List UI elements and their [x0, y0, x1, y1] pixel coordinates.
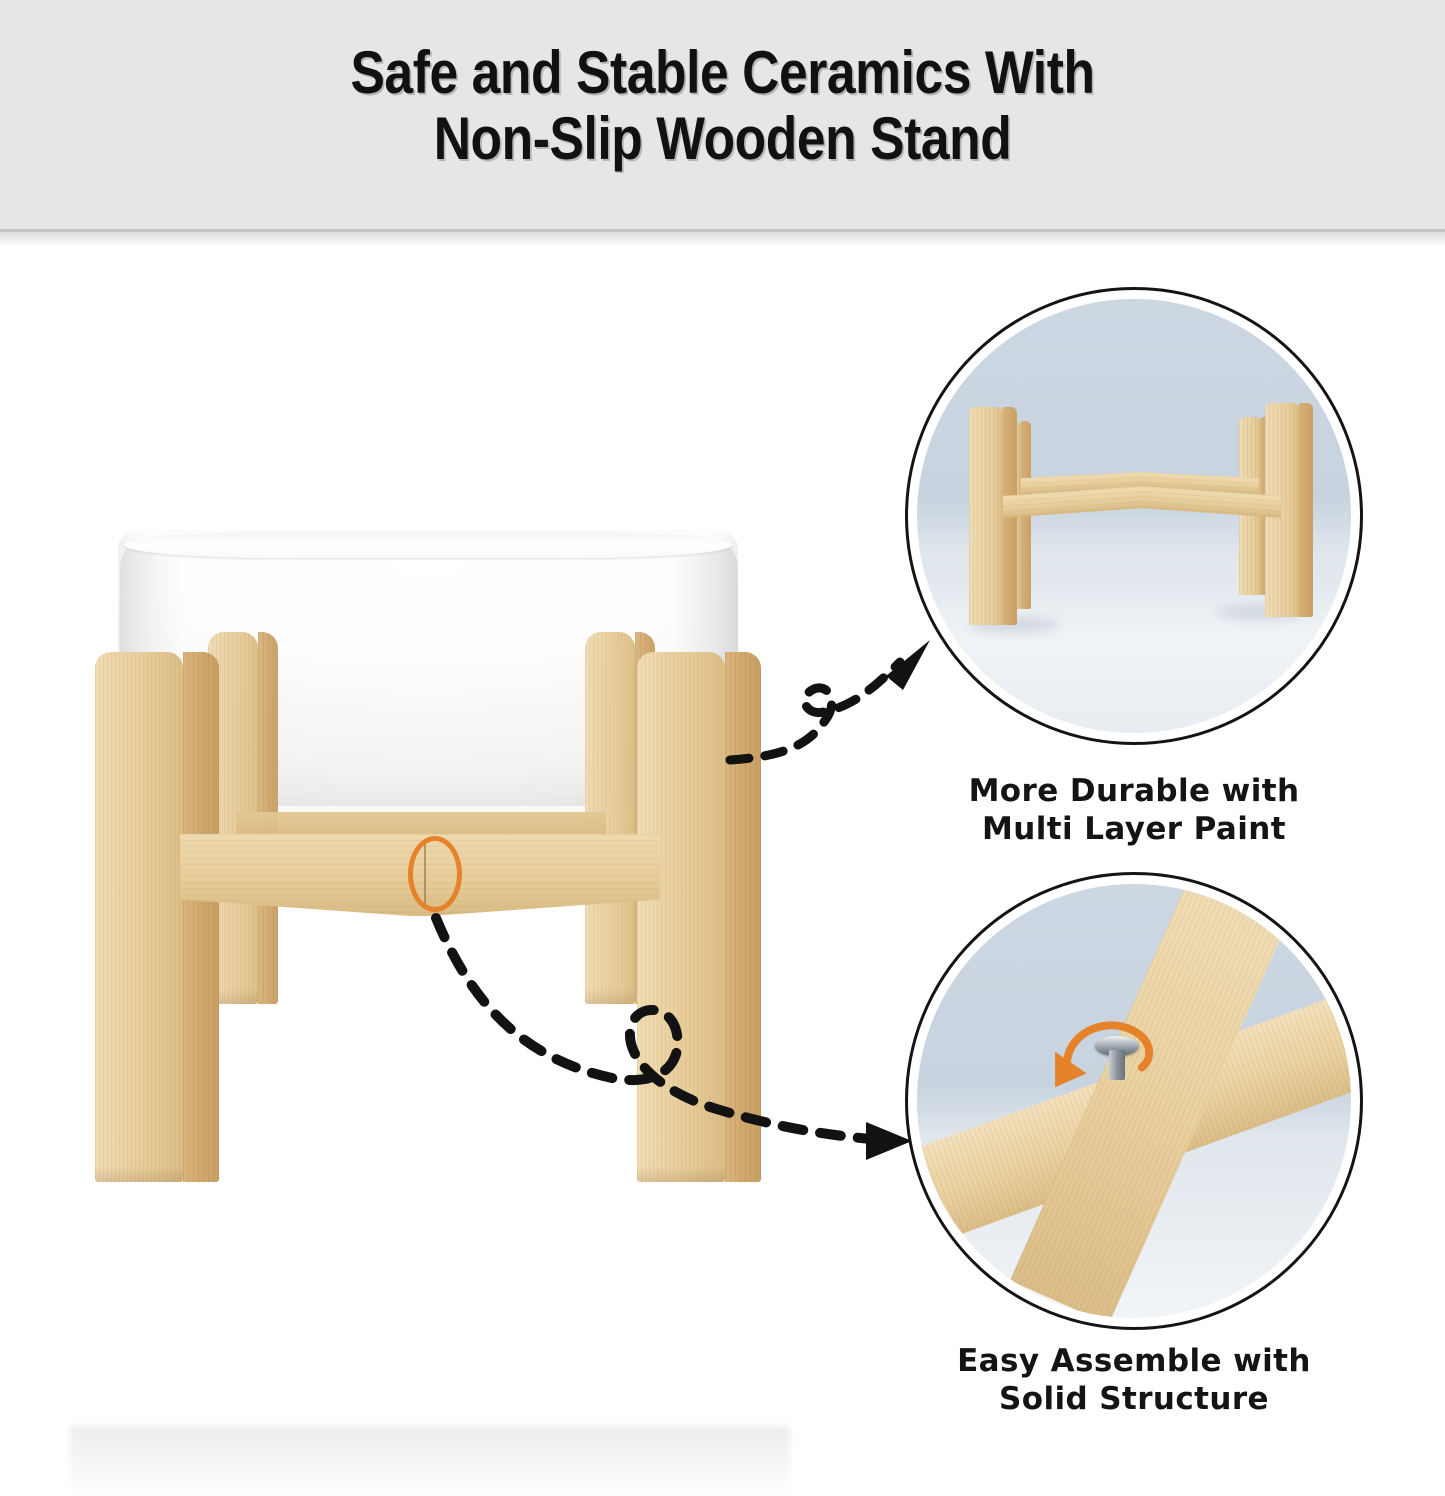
- leg-bottom-bevel: [95, 1166, 183, 1182]
- caption-assembly: Easy Assemble with Solid Structure: [904, 1342, 1364, 1418]
- stand-leg-front-right: [637, 652, 725, 1182]
- inset-circle-assembly: [905, 872, 1363, 1330]
- header-divider-shadow: [0, 232, 1445, 246]
- stand-leg-front-left: [95, 652, 183, 1182]
- leg-front-face: [95, 652, 183, 1182]
- joint-highlight-ellipse: [408, 836, 462, 912]
- caption-durability: More Durable with Multi Layer Paint: [904, 772, 1364, 848]
- bowl-rim: [124, 532, 732, 558]
- rotation-indicator-icon: [917, 884, 1351, 1318]
- inset-photo-bamboo-stand: [917, 299, 1351, 733]
- page-title: Safe and Stable Ceramics With Non-Slip W…: [101, 40, 1344, 172]
- inset-photo-screw-joint: [917, 884, 1351, 1318]
- infographic-canvas: Safe and Stable Ceramics With Non-Slip W…: [0, 0, 1445, 1410]
- floor-reflection: [70, 1426, 790, 1496]
- leg-bottom-bevel: [637, 1166, 725, 1182]
- inset-stand-leg-front-left: [969, 407, 1003, 625]
- leg-side-face: [1299, 403, 1313, 617]
- main-product-image: [0, 246, 880, 1410]
- leg-front-face: [637, 652, 725, 1182]
- leg-bottom-bevel: [585, 988, 635, 1004]
- leg-side-face: [725, 652, 761, 1182]
- inset-circle-durability: [905, 287, 1363, 745]
- leg-front-face: [969, 407, 1003, 625]
- leg-side-face: [183, 652, 219, 1182]
- screw-shaft: [1109, 1050, 1125, 1080]
